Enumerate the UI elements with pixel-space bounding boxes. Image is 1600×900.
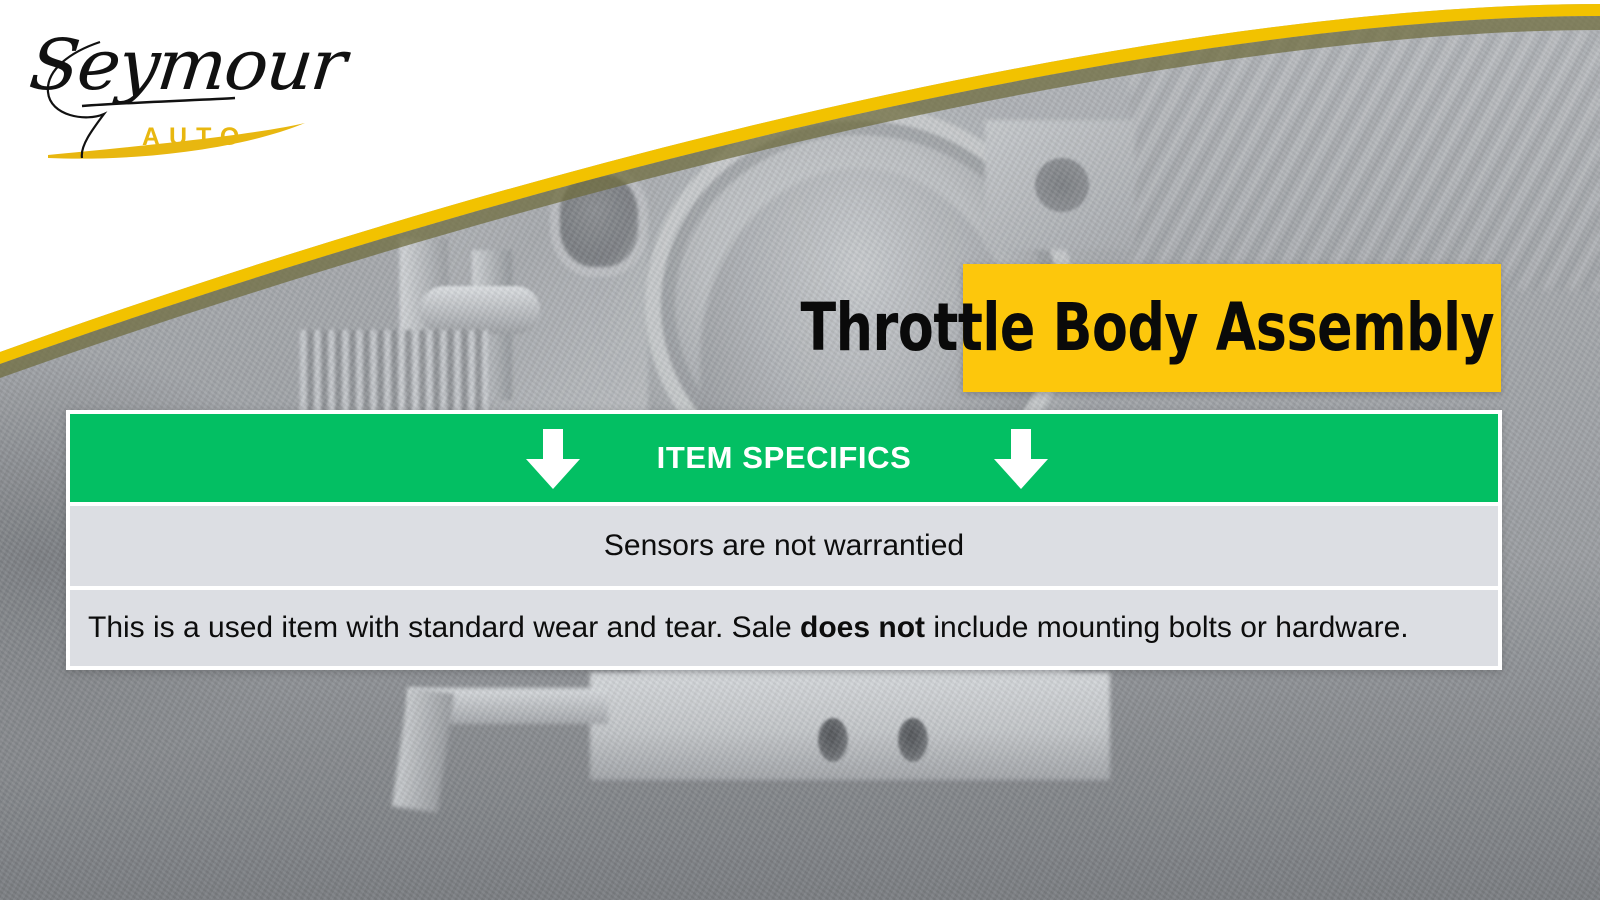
brand-subname: AUTO (142, 123, 248, 152)
spec-row: Sensors are not warrantied (70, 502, 1498, 586)
spec-row-text: This is a used item with standard wear a… (88, 611, 1409, 645)
arrow-down-icon (522, 429, 584, 489)
item-specifics-header: ITEM SPECIFICS (70, 414, 1498, 502)
spec-row: This is a used item with standard wear a… (70, 586, 1498, 666)
flyer-canvas: Seymour AUTO Throttle Body Assembly ITEM… (0, 0, 1600, 900)
product-title-plate: Throttle Body Assembly (963, 264, 1501, 392)
spec-text-lead: This is a used item with standard wear a… (88, 611, 800, 644)
brand-flourish-tail (48, 42, 104, 158)
item-specifics-label: ITEM SPECIFICS (657, 440, 912, 476)
spec-text-tail: include mounting bolts or hardware. (925, 611, 1409, 644)
spec-row-text: Sensors are not warrantied (604, 529, 964, 563)
brand-logo: Seymour AUTO (30, 18, 340, 168)
spec-text-emphasis: does not (800, 611, 925, 644)
product-title: Throttle Body Assembly (800, 295, 1501, 361)
brand-underline-stroke (82, 98, 235, 106)
item-specifics-table: ITEM SPECIFICS Sensors are not warrantie… (66, 410, 1502, 670)
arrow-down-icon (990, 429, 1052, 489)
